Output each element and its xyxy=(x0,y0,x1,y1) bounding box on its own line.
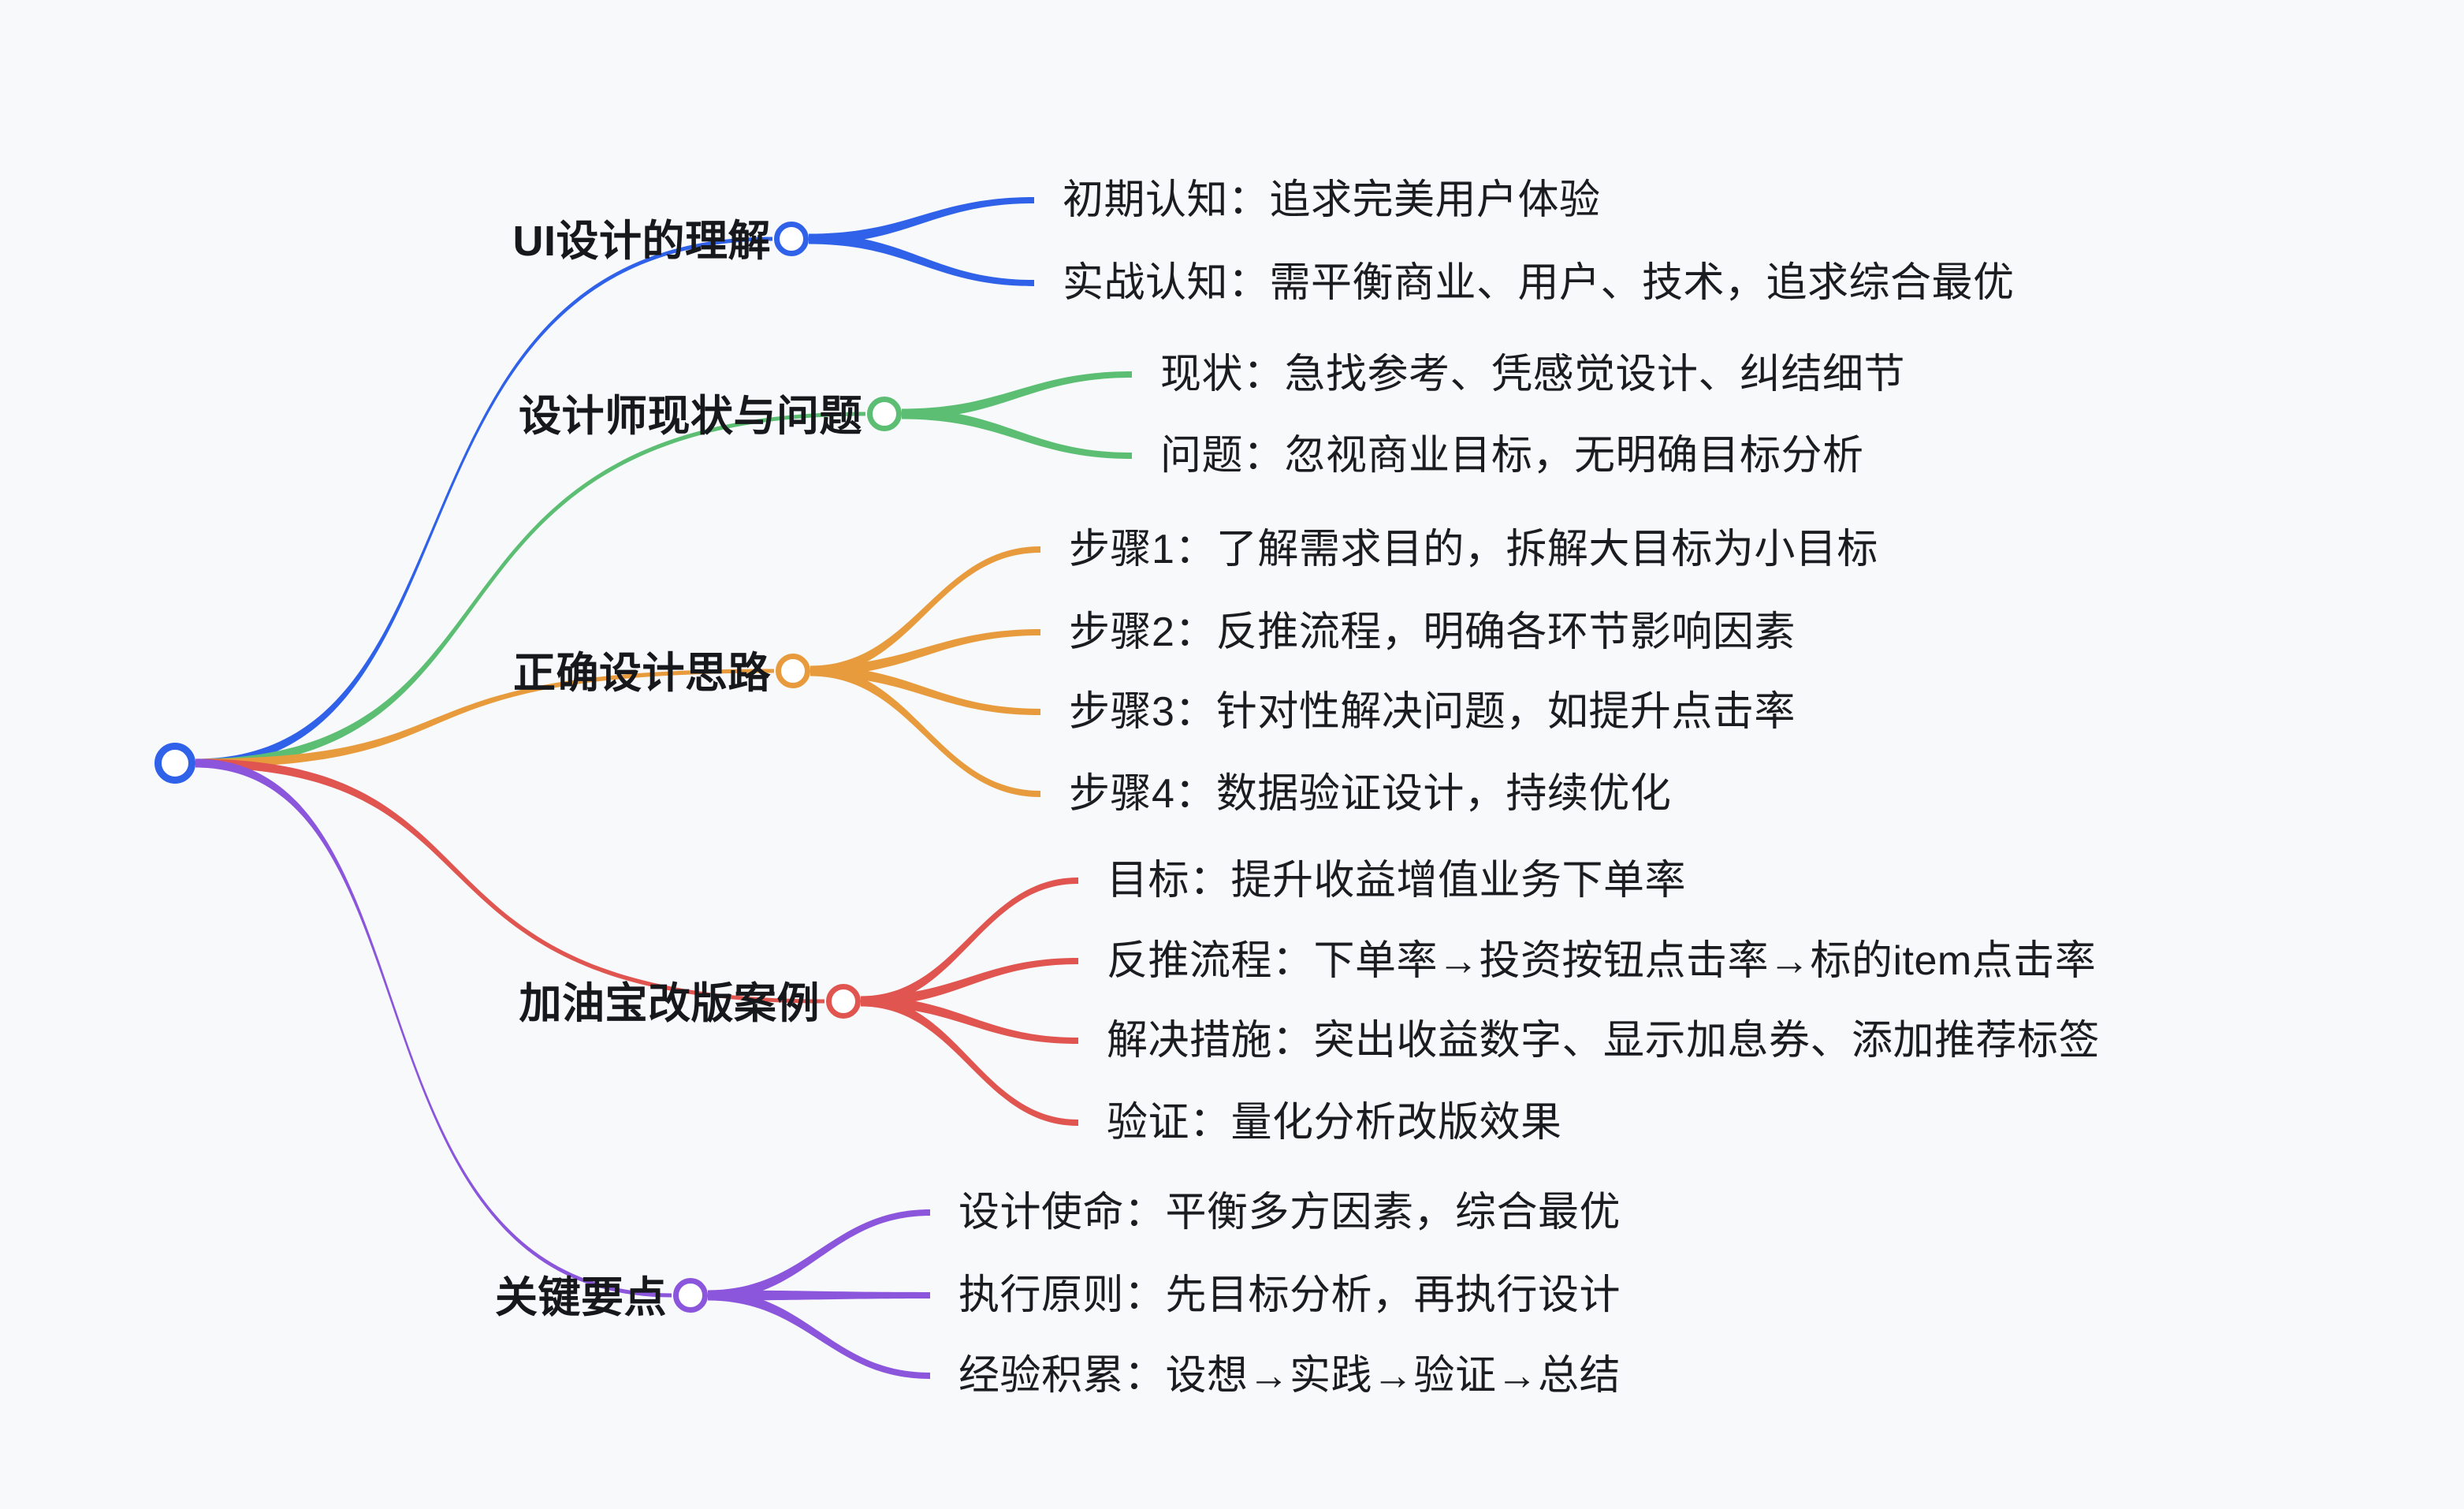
leaf-edge-status-problem xyxy=(902,409,1132,460)
branch-node-correct-approach[interactable] xyxy=(776,654,810,688)
leaf-label-case-verify[interactable]: 验证：量化分析改版效果 xyxy=(1107,1102,1562,1143)
branch-label-jiayoubao-case[interactable]: 加油宝改版案例 xyxy=(519,982,821,1025)
branch-node-jiayoubao-case[interactable] xyxy=(826,984,861,1019)
leaf-label-step-4[interactable]: 步骤4：数据验证设计，持续优化 xyxy=(1069,773,1671,814)
leaf-edge-step-1 xyxy=(810,546,1040,676)
branch-label-key-points[interactable]: 关键要点 xyxy=(495,1276,667,1319)
leaf-edge-step-4 xyxy=(810,666,1040,798)
leaf-edge-experience-accumulation xyxy=(708,1291,930,1380)
trunk-edge-designer-status xyxy=(195,412,865,768)
leaf-label-status-now[interactable]: 现状：急找参考、凭感觉设计、纠结细节 xyxy=(1160,354,1905,395)
root-node[interactable] xyxy=(154,743,195,784)
leaf-label-case-reverse-flow[interactable]: 反推流程：下单率→投资按钮点击率→标的item点击率 xyxy=(1107,941,2096,982)
trunk-edge-key-points xyxy=(195,759,672,1298)
leaf-label-status-problem[interactable]: 问题：忽视商业目标，无明确目标分析 xyxy=(1160,435,1864,476)
branch-label-ui-understanding[interactable]: UI设计的理解 xyxy=(513,220,772,263)
leaf-edge-case-verify xyxy=(861,997,1078,1127)
leaf-label-step-2[interactable]: 步骤2：反推流程，明确各环节影响因素 xyxy=(1069,612,1796,653)
leaf-edge-case-goal xyxy=(861,877,1078,1007)
leaf-label-case-goal[interactable]: 目标：提升收益增值业务下单率 xyxy=(1107,860,1686,901)
branch-label-correct-approach[interactable]: 正确设计思路 xyxy=(513,652,771,695)
branch-node-key-points[interactable] xyxy=(673,1278,708,1313)
branch-node-ui-understanding[interactable] xyxy=(774,222,809,256)
leaf-label-design-mission[interactable]: 设计使命：平衡多方因素，综合最优 xyxy=(958,1192,1621,1233)
leaf-label-early-cognition[interactable]: 初期认知：追求完美用户体验 xyxy=(1063,180,1601,221)
branch-node-designer-status[interactable] xyxy=(867,397,902,431)
leaf-label-execution-principle[interactable]: 执行原则：先目标分析，再执行设计 xyxy=(958,1275,1621,1316)
leaf-label-step-1[interactable]: 步骤1：了解需求目的，拆解大目标为小目标 xyxy=(1069,529,1878,570)
branch-label-designer-status[interactable]: 设计师现状与问题 xyxy=(519,395,862,438)
leaf-label-case-measures[interactable]: 解决措施：突出收益数字、显示加息券、添加推荐标签 xyxy=(1107,1020,2100,1061)
leaf-label-experience-accumulation[interactable]: 经验积累：设想→实践→验证→总结 xyxy=(958,1355,1621,1396)
leaf-edge-design-mission xyxy=(708,1209,930,1301)
leaf-label-practical-cognition[interactable]: 实战认知：需平衡商业、用户、技术，追求综合最优 xyxy=(1063,263,2015,304)
mindmap-canvas: UI设计的理解初期认知：追求完美用户体验实战认知：需平衡商业、用户、技术，追求综… xyxy=(0,0,2464,1509)
leaf-label-step-3[interactable]: 步骤3：针对性解决问题，如提升点击率 xyxy=(1069,691,1796,732)
leaf-edge-practical-cognition xyxy=(809,234,1034,287)
